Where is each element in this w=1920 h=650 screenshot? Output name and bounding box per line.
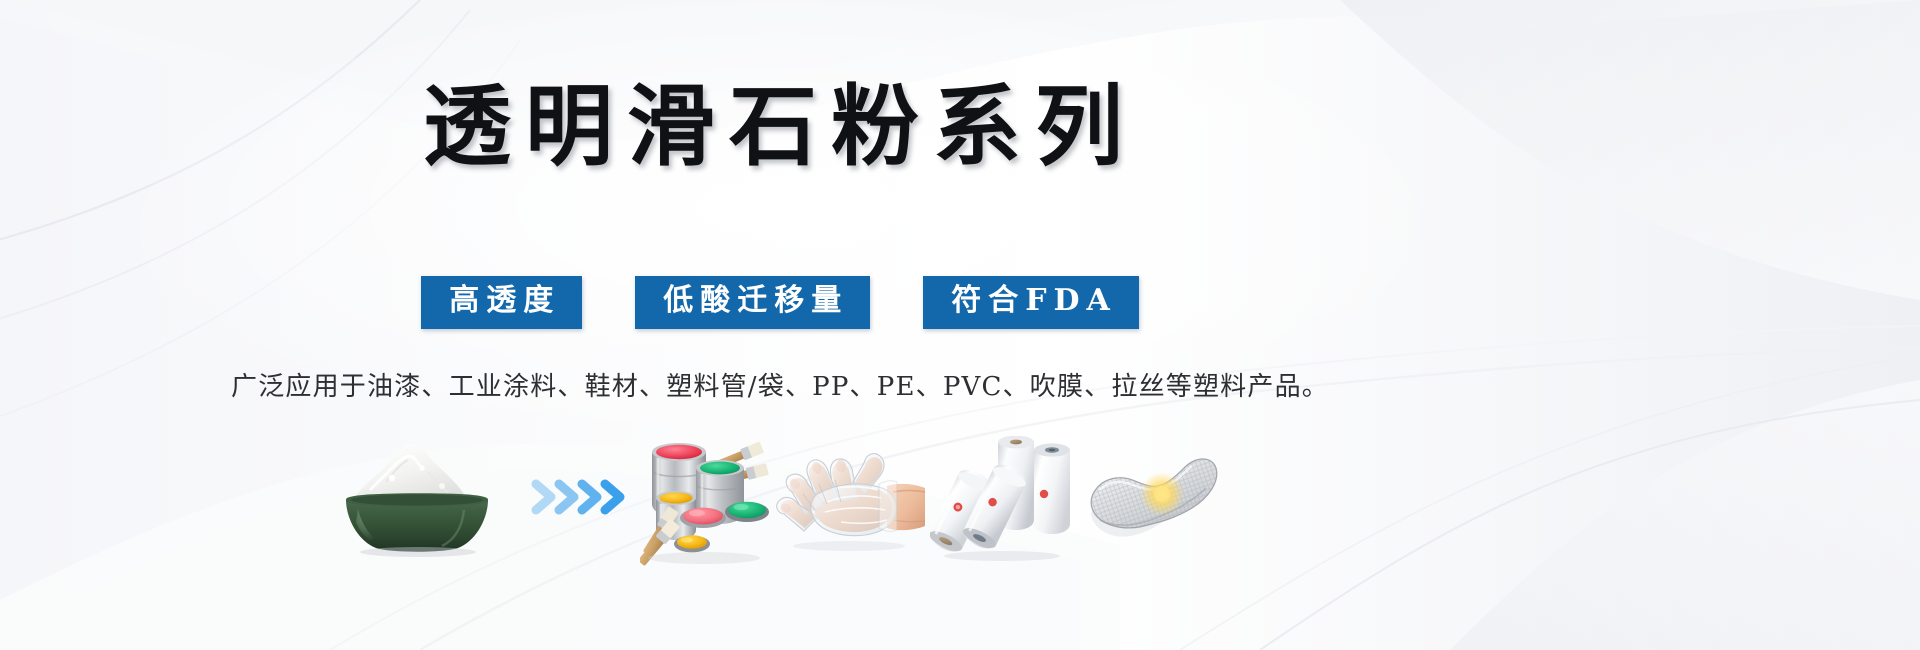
talc-powder-bowl-icon bbox=[330, 438, 505, 558]
product-banner: 透明滑石粉系列 高透度 低酸迁移量 符合FDA 广泛应用于油漆、工业涂料、鞋材、… bbox=[0, 0, 1920, 650]
badge-low-acid-migration: 低酸迁移量 bbox=[635, 276, 870, 329]
application-image-strip bbox=[330, 432, 1230, 582]
paint-cans-icon bbox=[640, 432, 780, 577]
banner-title: 透明滑石粉系列 bbox=[0, 82, 1560, 170]
plastic-glove-icon bbox=[775, 442, 925, 562]
badge-fda-compliant: 符合FDA bbox=[923, 276, 1139, 329]
application-description: 广泛应用于油漆、工业涂料、鞋材、塑料管/袋、PP、PE、PVC、吹膜、拉丝等塑料… bbox=[0, 366, 1560, 403]
badge-high-transparency: 高透度 bbox=[421, 276, 582, 329]
feature-badges: 高透度 低酸迁移量 符合FDA bbox=[0, 276, 1560, 329]
arrow-chevrons-icon bbox=[530, 474, 640, 520]
shoe-sole-icon bbox=[1080, 446, 1220, 556]
plastic-film-rolls-icon bbox=[930, 436, 1075, 566]
